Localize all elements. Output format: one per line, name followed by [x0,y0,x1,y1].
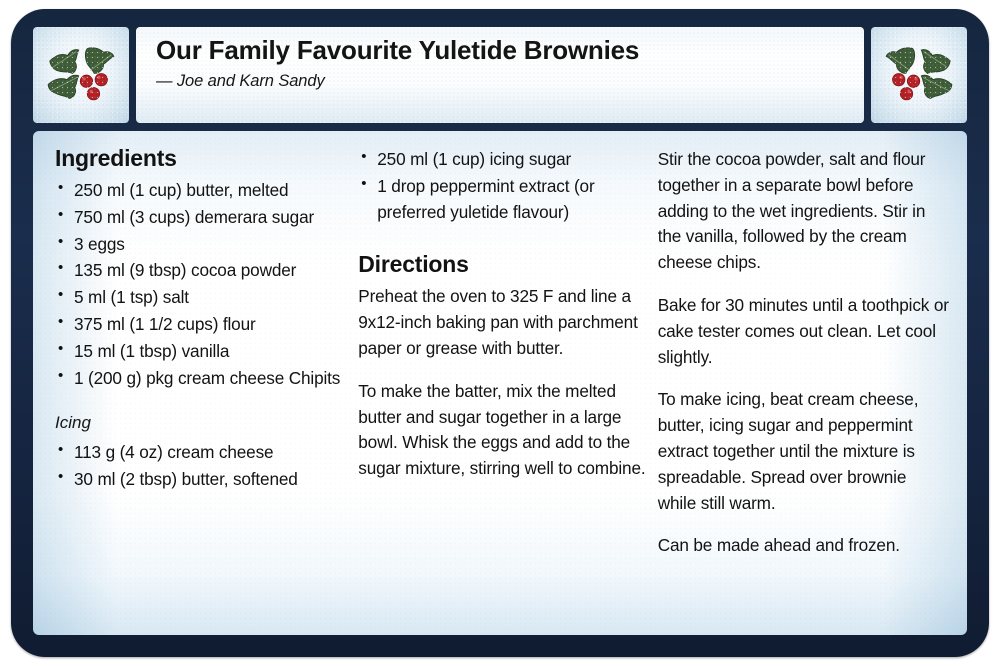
list-item: 135 ml (9 tbsp) cocoa powder [55,258,348,284]
list-item: 5 ml (1 tsp) salt [55,285,348,311]
ingredients-list: 250 ml (1 cup) butter, melted 750 ml (3 … [55,178,348,391]
direction-step: Stir the cocoa powder, salt and flour to… [658,147,949,276]
column-directions-start: 250 ml (1 cup) icing sugar 1 drop pepper… [358,145,657,482]
list-item: 3 eggs [55,232,348,258]
list-item: 375 ml (1 1/2 cups) flour [55,312,348,338]
list-item: 113 g (4 oz) cream cheese [55,440,348,466]
list-item: 250 ml (1 cup) butter, melted [55,178,348,204]
direction-step: Can be made ahead and frozen. [658,533,949,559]
recipe-card: Our Family Favourite Yuletide Brownies —… [0,0,1000,666]
content-columns: Ingredients 250 ml (1 cup) butter, melte… [55,145,949,625]
recipe-author: — Joe and Karn Sandy [156,72,864,91]
list-item: 1 drop peppermint extract (or preferred … [358,174,645,226]
direction-step: Bake for 30 minutes until a toothpick or… [658,293,949,370]
page-title: Our Family Favourite Yuletide Brownies [156,36,864,65]
holly-sprig-left-icon [42,36,120,114]
list-item: 750 ml (3 cups) demerara sugar [55,205,348,231]
column-directions-continued: Stir the cocoa powder, salt and flour to… [658,145,949,559]
ingredients-heading: Ingredients [55,145,348,172]
list-item: 15 ml (1 tbsp) vanilla [55,339,348,365]
holly-decoration-left-box [33,27,129,123]
direction-step: To make the batter, mix the melted butte… [358,379,645,482]
holly-sprig-right-icon [880,36,958,114]
card-body: Ingredients 250 ml (1 cup) butter, melte… [33,131,967,635]
icing-heading: Icing [55,413,348,433]
icing-ingredients-list: 113 g (4 oz) cream cheese 30 ml (2 tbsp)… [55,440,348,493]
holly-decoration-right-box [871,27,967,123]
direction-step: Preheat the oven to 325 F and line a 9x1… [358,284,645,361]
icing-ingredients-list-continued: 250 ml (1 cup) icing sugar 1 drop pepper… [358,147,645,225]
direction-step: To make icing, beat cream cheese, butter… [658,387,949,516]
column-ingredients: Ingredients 250 ml (1 cup) butter, melte… [55,145,358,494]
list-item: 30 ml (2 tbsp) butter, softened [55,467,348,493]
title-panel: Our Family Favourite Yuletide Brownies —… [136,27,864,123]
card-header: Our Family Favourite Yuletide Brownies —… [33,27,967,123]
list-item: 250 ml (1 cup) icing sugar [358,147,645,173]
directions-heading: Directions [358,251,645,278]
list-item: 1 (200 g) pkg cream cheese Chipits [55,366,348,392]
